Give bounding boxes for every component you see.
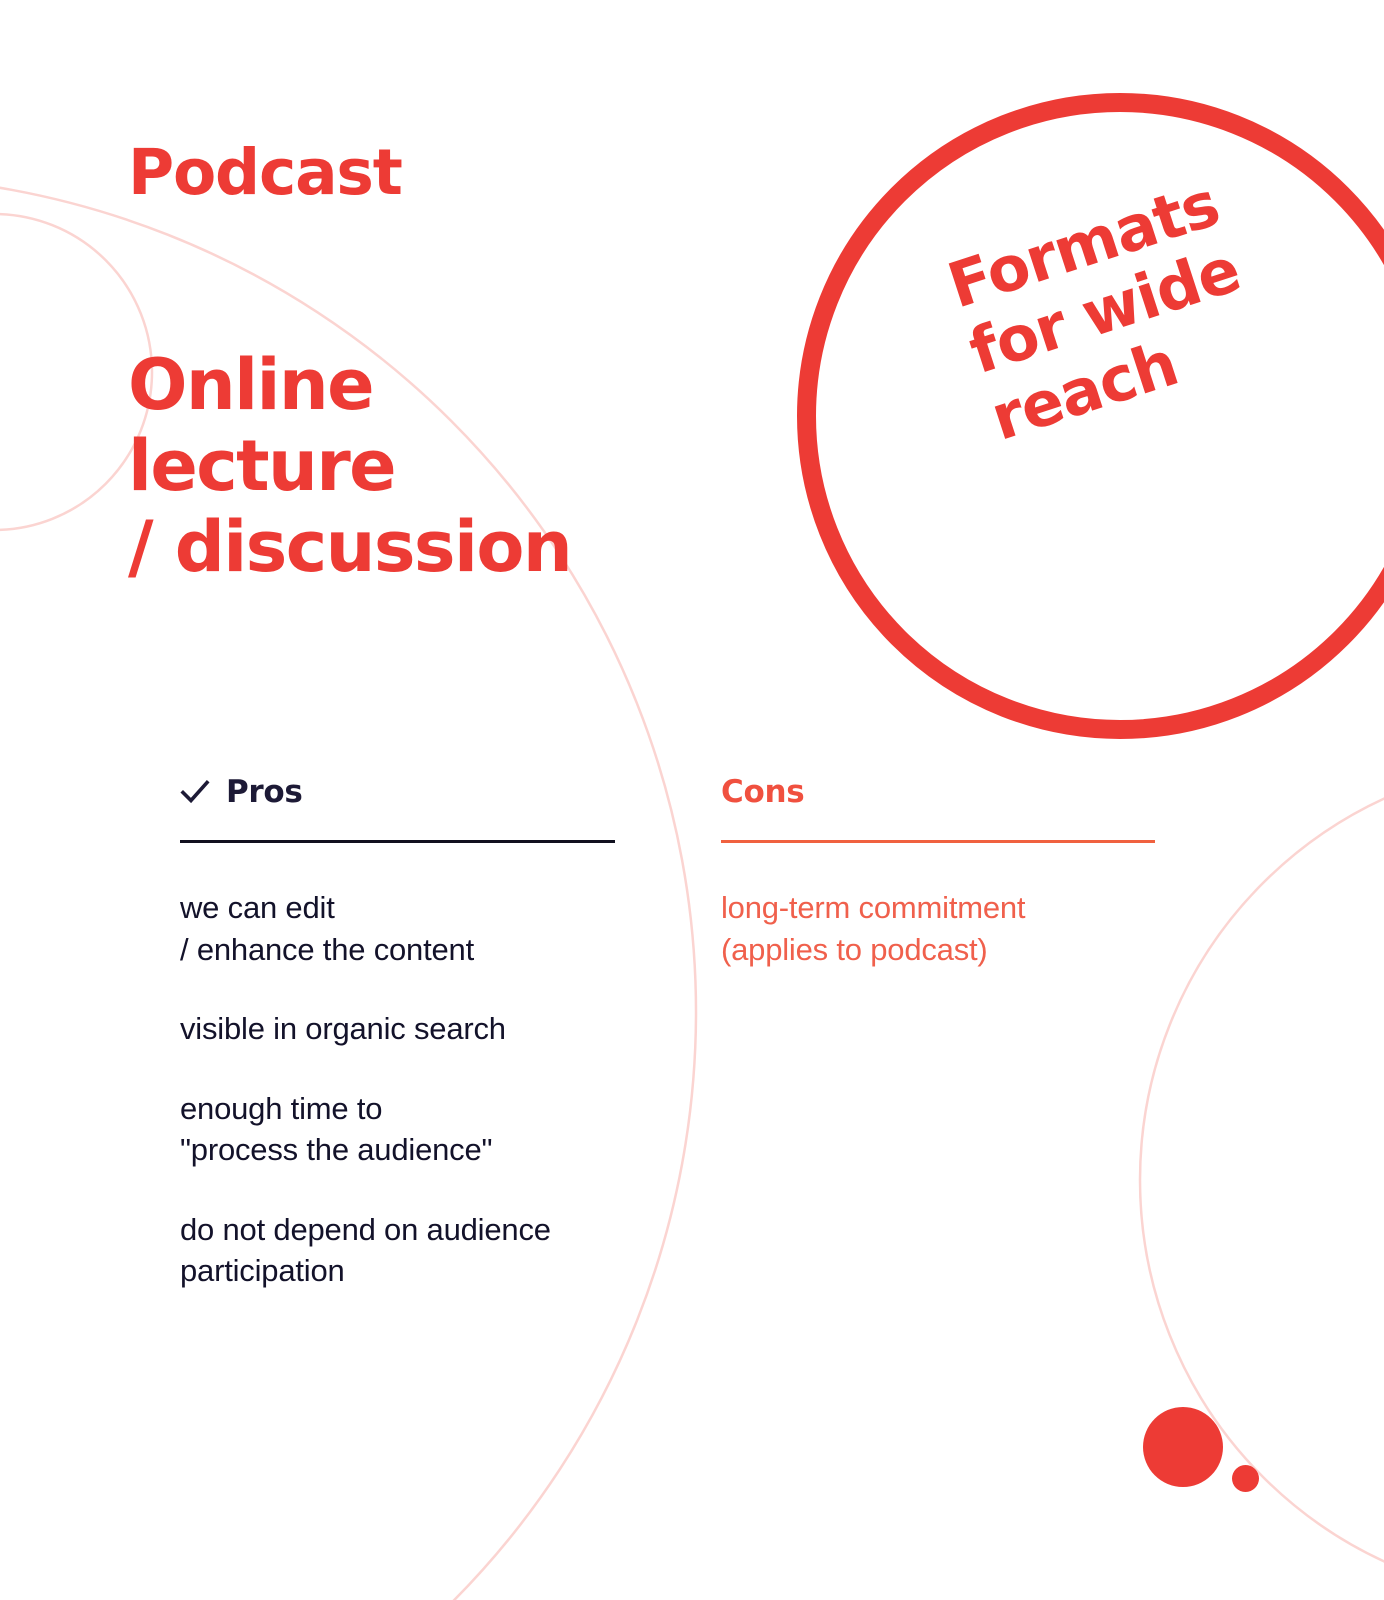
- page-title: Online lecture / discussion: [128, 345, 828, 589]
- list-item: long-term commitment (applies to podcast…: [721, 887, 1155, 970]
- kicker-heading-block: Podcast: [128, 140, 748, 206]
- cons-heading-label: Cons: [721, 774, 804, 810]
- pros-list: we can edit / enhance the content visibl…: [180, 887, 615, 1292]
- pros-divider: [180, 840, 615, 843]
- list-item: do not depend on audience participation: [180, 1209, 615, 1292]
- large-dot-icon: [1143, 1407, 1223, 1487]
- check-icon: [180, 777, 210, 807]
- slide-root: Podcast Online lecture / discussion Form…: [0, 0, 1384, 1600]
- small-dot-icon: [1232, 1465, 1259, 1492]
- pros-heading-row: Pros: [180, 770, 615, 814]
- cons-column: Cons long-term commitment (applies to po…: [721, 770, 1155, 1008]
- kicker-heading: Podcast: [128, 140, 748, 206]
- pros-heading-label: Pros: [226, 774, 303, 810]
- cons-heading-row: Cons: [721, 770, 1155, 814]
- pros-column: Pros we can edit / enhance the content v…: [180, 770, 615, 1330]
- list-item: we can edit / enhance the content: [180, 887, 615, 970]
- cons-list: long-term commitment (applies to podcast…: [721, 887, 1155, 970]
- cons-divider: [721, 840, 1155, 843]
- list-item: enough time to "process the audience": [180, 1088, 615, 1171]
- list-item: visible in organic search: [180, 1008, 615, 1050]
